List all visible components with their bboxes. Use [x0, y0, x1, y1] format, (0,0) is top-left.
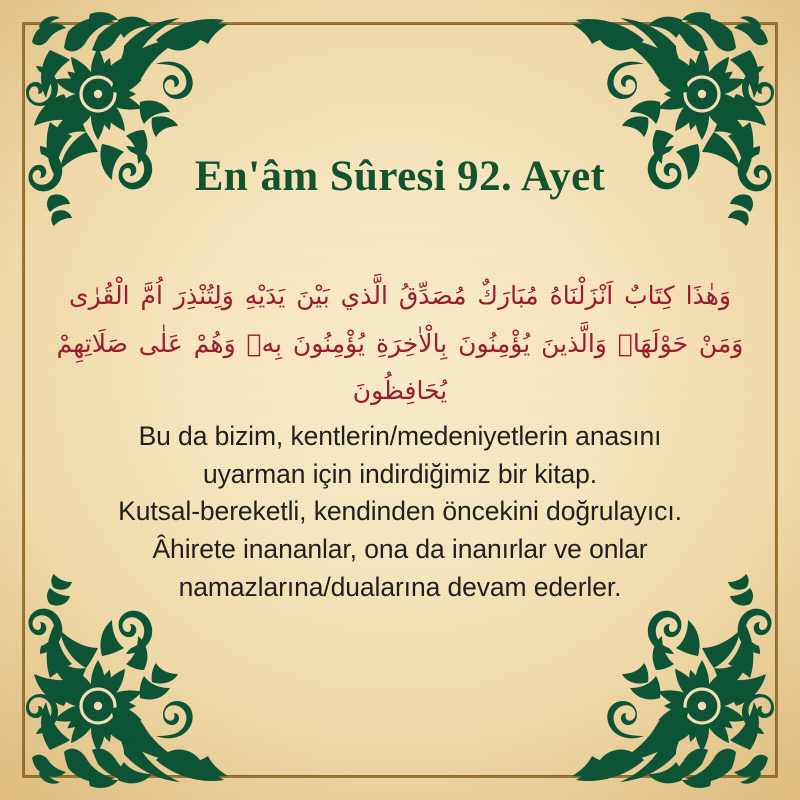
ayet-card: En'âm Sûresi 92. Ayet وَهٰذَا كِتَابٌ اَ…	[0, 0, 800, 800]
arabic-verse-text: وَهٰذَا كِتَابٌ اَنْزَلْنَاهُ مُبَارَكٌ …	[54, 272, 746, 415]
arabic-line-2: وَمَنْ حَوْلَهَاۜ وَالَّذينَ يُؤْمِنُونَ…	[54, 320, 746, 368]
arabic-line-3: يُحَافِظُونَ	[54, 367, 746, 415]
translation-line-5: namazlarına/dualarına devam ederler.	[52, 569, 748, 607]
turkish-translation-text: Bu da bizim, kentlerin/medeniyetlerin an…	[52, 418, 748, 606]
arabic-line-1: وَهٰذَا كِتَابٌ اَنْزَلْنَاهُ مُبَارَكٌ …	[54, 272, 746, 320]
translation-line-4: Âhirete inananlar, ona da inanırlar ve o…	[52, 531, 748, 569]
translation-line-1: Bu da bizim, kentlerin/medeniyetlerin an…	[52, 418, 748, 456]
translation-line-3: Kutsal-bereketli, kendinden öncekini doğ…	[52, 493, 748, 531]
content-area: En'âm Sûresi 92. Ayet وَهٰذَا كِتَابٌ اَ…	[40, 40, 760, 760]
page-title: En'âm Sûresi 92. Ayet	[40, 153, 760, 200]
translation-line-2: uyarman için indirdiğimiz bir kitap.	[52, 456, 748, 494]
